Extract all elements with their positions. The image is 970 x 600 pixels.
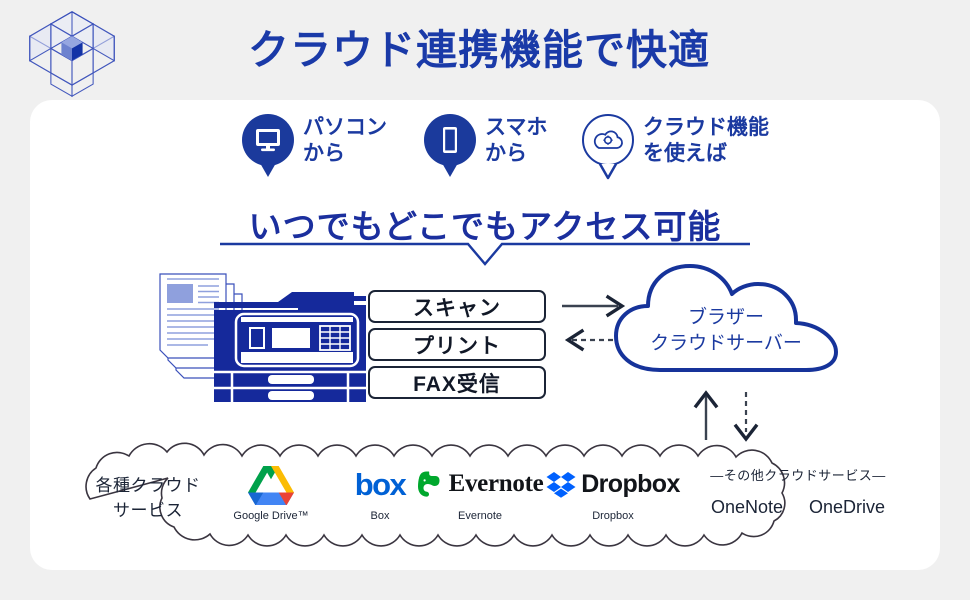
arrow-down-dashed bbox=[736, 392, 756, 439]
service-name: Google Drive™ bbox=[216, 510, 326, 522]
evernote-wordmark: Evernote bbox=[449, 470, 544, 498]
access-method-cloud: クラウド機能 を使えば bbox=[582, 114, 769, 166]
pin-label-line2: から bbox=[485, 141, 547, 167]
pin-label-line1: パソコン bbox=[303, 115, 387, 141]
function-scan[interactable]: スキャン bbox=[368, 290, 546, 323]
pin-label-line2: を使えば bbox=[643, 141, 769, 167]
cloud-services-label: 各種クラウド サービス bbox=[68, 474, 228, 523]
access-methods-row: パソコン から スマホ から bbox=[212, 114, 832, 200]
service-google-drive: Google Drive™ bbox=[216, 462, 326, 522]
content-card: パソコン から スマホ から bbox=[30, 100, 940, 570]
function-fax-receive[interactable]: FAX受信 bbox=[368, 366, 546, 399]
page-title: クラウド連携機能で快適 bbox=[248, 16, 710, 76]
dropbox-icon bbox=[546, 471, 576, 498]
cloud-server-line1: ブラザー bbox=[608, 305, 844, 331]
service-name: Evernote bbox=[412, 510, 548, 522]
brother-cloud-server-label: ブラザー クラウドサーバー bbox=[608, 305, 844, 356]
service-dropbox: Dropbox Dropbox bbox=[538, 462, 688, 522]
cloud-gear-icon bbox=[582, 114, 634, 166]
cloud-services-label-line2: サービス bbox=[68, 499, 228, 524]
access-method-cloud-label: クラウド機能 を使えば bbox=[643, 114, 769, 166]
arrow-up-solid bbox=[696, 393, 716, 440]
pin-label-line1: クラウド機能 bbox=[643, 115, 769, 141]
box-wordmark: box bbox=[355, 469, 406, 500]
smartphone-icon bbox=[424, 114, 476, 166]
function-print[interactable]: プリント bbox=[368, 328, 546, 361]
dropbox-logo: Dropbox bbox=[538, 462, 688, 506]
monitor-icon bbox=[242, 114, 294, 166]
pin-label-line2: から bbox=[303, 141, 387, 167]
google-drive-icon bbox=[216, 462, 326, 506]
other-services-heading: —その他クラウドサービス— bbox=[680, 465, 916, 484]
multifunction-printer-icon bbox=[128, 258, 368, 413]
other-services-list: OneNote OneDrive bbox=[680, 497, 916, 518]
evernote-logo: Evernote bbox=[412, 462, 548, 506]
infographic-root: クラウド連携機能で快適 パソコン から bbox=[0, 0, 970, 600]
service-name: Dropbox bbox=[538, 510, 688, 522]
function-list: スキャン プリント FAX受信 bbox=[368, 290, 546, 404]
cloud-server-line2: クラウドサーバー bbox=[608, 331, 844, 357]
cloud-services-arrows bbox=[692, 390, 768, 447]
pin-tail-icon bbox=[598, 163, 618, 180]
evernote-elephant-icon bbox=[417, 469, 444, 499]
other-cloud-services: —その他クラウドサービス— OneNote OneDrive bbox=[680, 465, 916, 518]
service-onenote: OneNote bbox=[711, 497, 783, 518]
access-method-pc-label: パソコン から bbox=[303, 114, 387, 166]
dropbox-wordmark: Dropbox bbox=[581, 470, 680, 499]
isometric-cube-lattice-logo bbox=[24, 6, 120, 102]
cloud-services-label-line1: 各種クラウド bbox=[68, 474, 228, 499]
service-onedrive: OneDrive bbox=[809, 497, 885, 518]
access-method-pc: パソコン から bbox=[242, 114, 387, 166]
access-method-smartphone: スマホ から bbox=[424, 114, 547, 166]
service-evernote: Evernote Evernote bbox=[412, 462, 548, 522]
pin-label-line1: スマホ bbox=[485, 115, 547, 141]
access-method-smartphone-label: スマホ から bbox=[485, 114, 547, 166]
